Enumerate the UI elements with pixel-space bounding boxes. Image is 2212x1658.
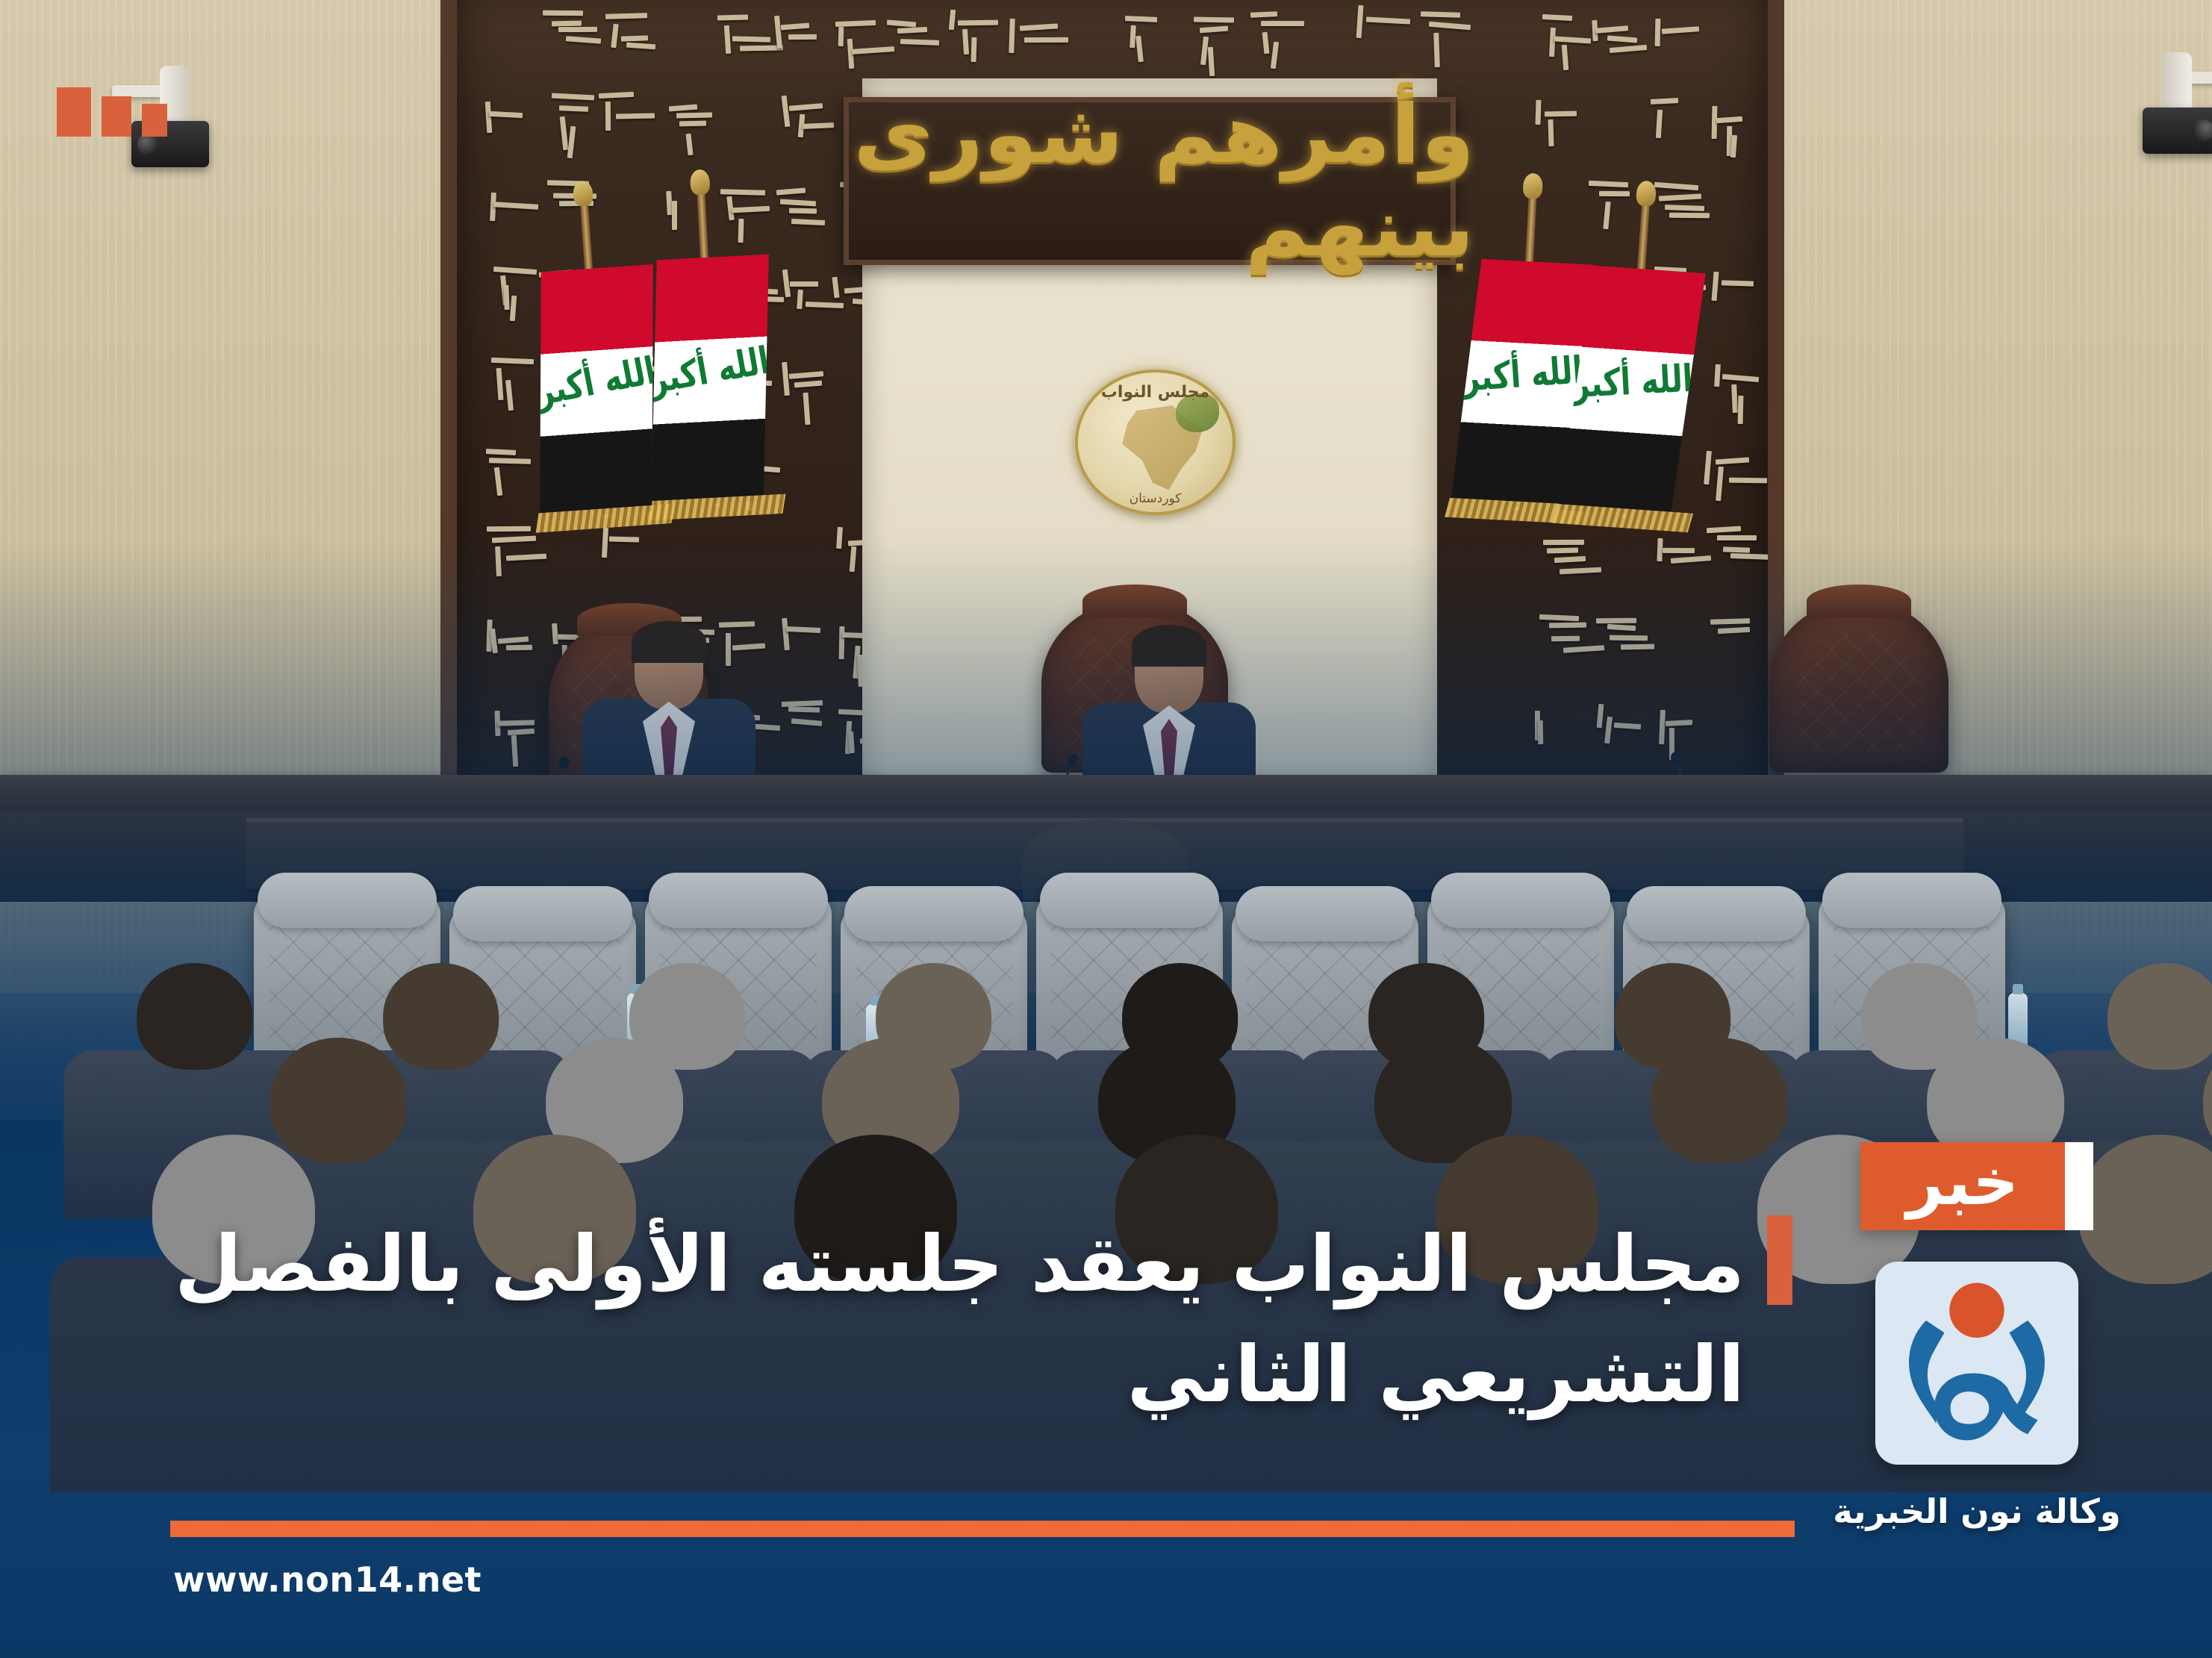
status-badge: خبر: [1860, 1142, 2066, 1230]
brand-block: خبر وكالة نون الخبرية: [1801, 1142, 2152, 1531]
emblem-top-label: مجلس النواب: [1078, 383, 1233, 402]
leather-chair: [1769, 601, 1948, 773]
parliament-emblem: مجلس النواب كوردستان: [1075, 370, 1236, 515]
headline-accent-bar-icon: [1767, 1215, 1792, 1305]
headline-block: مجلس النواب يعقد جلسته الأولى بالفصل الت…: [165, 1209, 1792, 1430]
bench-top-rail: [0, 775, 2212, 814]
security-camera-icon: [2090, 52, 2212, 187]
headline-line-2: التشريعي الثاني: [165, 1320, 1745, 1430]
calligraphy-text: وأمرهم شورى بينهم: [825, 88, 1474, 275]
emblem-bottom-label: كوردستان: [1078, 491, 1233, 506]
news-card: وأمرهم شورى بينهم مجلس النواب كوردستان ا…: [0, 0, 2212, 1658]
page-title: مجلس النواب يعقد جلسته الأولى بالفصل الت…: [165, 1209, 1745, 1430]
iraqi-flag: الله أكبر: [1558, 264, 1706, 519]
badge-row: خبر: [1801, 1142, 2152, 1230]
headline-line-1: مجلس النواب يعقد جلسته الأولى بالفصل: [165, 1209, 1745, 1320]
calligraphy-plaque: وأمرهم شورى بينهم: [844, 97, 1456, 265]
stepped-bars-icon: [57, 87, 167, 137]
noon-agency-logo-icon: [1875, 1262, 2078, 1465]
agency-name: وكالة نون الخبرية: [1833, 1492, 2120, 1531]
website-url[interactable]: www.non14.net: [173, 1559, 482, 1600]
badge-white-tab: [2065, 1142, 2093, 1230]
orange-divider: [170, 1521, 1795, 1537]
iraqi-flag: الله أكبر: [523, 264, 670, 519]
